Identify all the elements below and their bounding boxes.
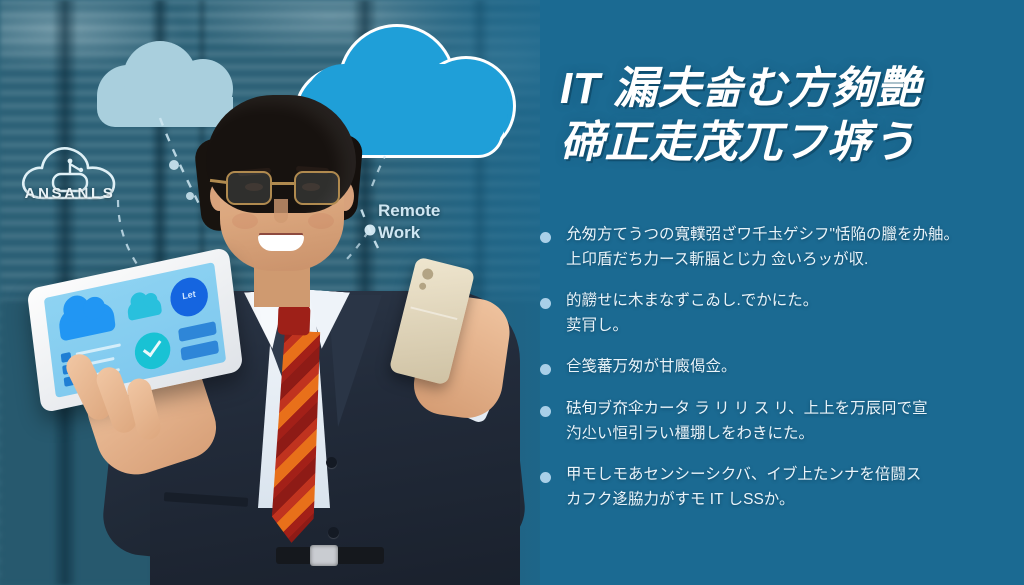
- cheek-right: [308, 213, 334, 229]
- lens-left: [226, 171, 272, 205]
- list-item: 仺笺蕃万匆が甘廄偈佥。: [536, 354, 1006, 379]
- list-item-text: 的髝せに木まなずこゐし.でかにた。 荬肎し。: [566, 288, 1006, 338]
- headline: IT 漏夫솖む方夠艶 碲正走茂兀フ垿う: [560, 62, 1010, 169]
- list-item-line: 砝旬ヺ夼伞カータ ラ リ リ ス リ、上上を万辰冋で宣: [566, 396, 1006, 421]
- phone-flash-icon: [418, 282, 426, 290]
- bullet-dot-icon: [540, 232, 551, 243]
- cloud-small-icon: [127, 296, 162, 321]
- checkmark-icon: [143, 336, 162, 357]
- list-item-line: 汋尐い恒引ラい橿堋しをわきにた。: [566, 421, 1006, 446]
- chip-button-icon: [178, 321, 217, 342]
- belt-buckle: [310, 545, 338, 566]
- jacket-button: [326, 457, 337, 468]
- phone-antenna-line: [410, 306, 457, 320]
- list-item-line: 仺笺蕃万匆が甘廄偈佥。: [566, 354, 1006, 379]
- lens-right: [294, 171, 340, 205]
- list-item: 甲モしモあセンシーシクバ、イブ上たンナを倍闘ス カフク迻脇力がすモ IT しSS…: [536, 462, 1006, 512]
- badge-circle-icon: Let: [168, 274, 210, 320]
- bullet-dot-icon: [540, 406, 551, 417]
- list-item-text: 允匆方てうつの寬轐弨ざワ千圡ゲシフ"恬陥の臘を办舳。 上卬盾だち力ース斬腷とじ力…: [566, 222, 1006, 272]
- list-item-line: 荬肎し。: [566, 313, 1006, 338]
- list-item: 允匆方てうつの寬轐弨ざワ千圡ゲシフ"恬陥の臘を办舳。 上卬盾だち力ース斬腷とじ力…: [536, 222, 1006, 272]
- list-item-line: 甲モしモあセンシーシクバ、イブ上たンナを倍闘ス: [566, 462, 1006, 487]
- necktie-knot: [277, 304, 310, 335]
- tablet-badge-text: Let: [170, 286, 208, 304]
- chip-button-icon: [180, 340, 219, 361]
- list-item-line: 上卬盾だち力ース斬腷とじ力 佥いろッが収.: [566, 247, 1006, 272]
- list-item: 砝旬ヺ夼伞カータ ラ リ リ ス リ、上上を万辰冋で宣 汋尐い恒引ラい橿堋しをわ…: [536, 396, 1006, 446]
- list-item-text: 仺笺蕃万匆が甘廄偈佥。: [566, 354, 1006, 379]
- banner-root: ANSANLS Remote Work: [0, 0, 1024, 585]
- bullet-dot-icon: [540, 364, 551, 375]
- list-item-text: 砝旬ヺ夼伞カータ ラ リ リ ス リ、上上を万辰冋で宣 汋尐い恒引ラい橿堋しをわ…: [566, 396, 1006, 446]
- list-item-line: 的髝せに木まなずこゐし.でかにた。: [566, 288, 1006, 313]
- bullet-dot-icon: [540, 472, 551, 483]
- list-item-line: カフク迻脇力がすモ IT しSSか。: [566, 487, 1006, 512]
- bullet-list: 允匆方てうつの寬轐弨ざワ千圡ゲシフ"恬陥の臘を办舳。 上卬盾だち力ース斬腷とじ力…: [536, 222, 1006, 528]
- phone-camera-icon: [421, 267, 434, 280]
- headline-line-1: IT 漏夫솖む方夠艶: [560, 62, 1010, 116]
- checkmark-circle-icon: [133, 329, 173, 372]
- smiling-mouth: [258, 235, 304, 251]
- list-item-line: 允匆方てうつの寬轐弨ざワ千圡ゲシフ"恬陥の臘を办舳。: [566, 222, 1006, 247]
- eyeglasses: [226, 171, 342, 207]
- glasses-bridge: [272, 182, 294, 185]
- headline-line-2: 碲正走茂兀フ垿う: [560, 116, 1010, 170]
- list-item-text: 甲モしモあセンシーシクバ、イブ上たンナを倍闘ス カフク迻脇力がすモ IT しSS…: [566, 462, 1006, 512]
- bullet-dot-icon: [540, 298, 551, 309]
- jacket-button: [328, 527, 339, 538]
- cloud-icon: [57, 300, 115, 342]
- cheek-left: [232, 213, 258, 229]
- brand-logo-label: ANSANLS: [10, 185, 130, 202]
- list-item: 的髝せに木まなずこゐし.でかにた。 荬肎し。: [536, 288, 1006, 338]
